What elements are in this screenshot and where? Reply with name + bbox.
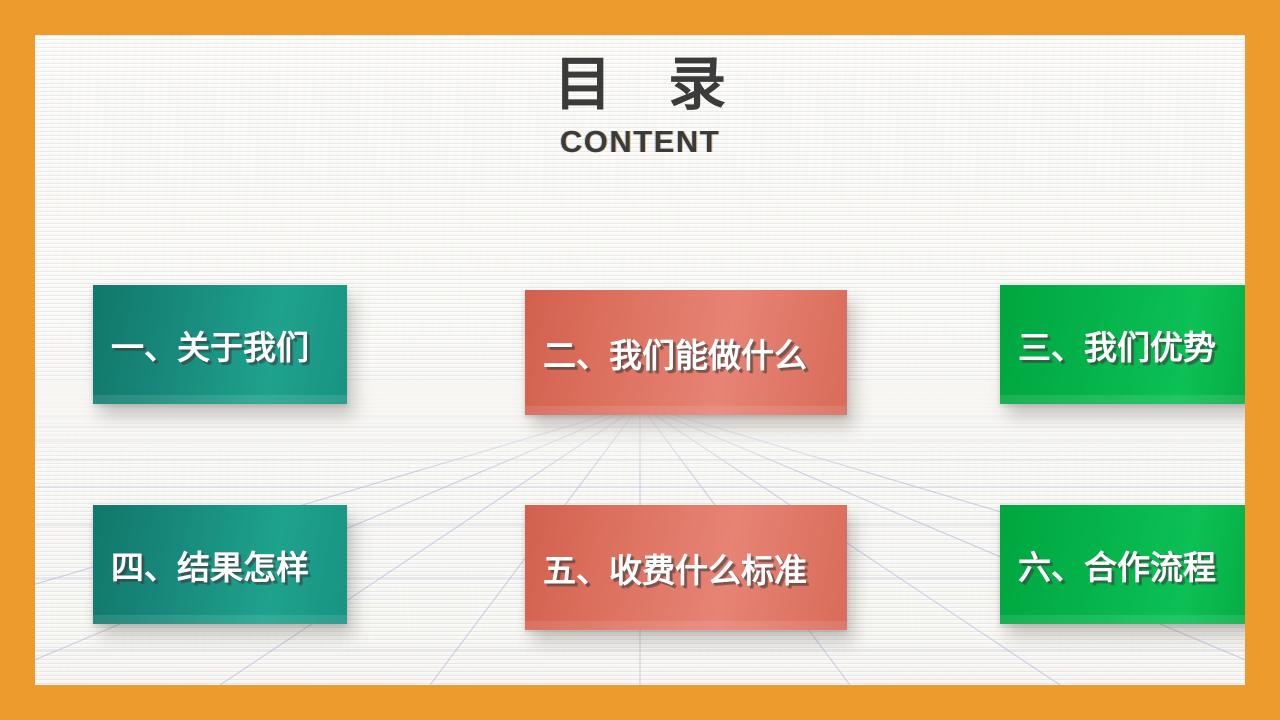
page-subtitle: CONTENT <box>35 124 1245 160</box>
agenda-card-1-label: 一、关于我们 <box>93 321 309 369</box>
agenda-card-3[interactable]: 三、我们优势 <box>1000 285 1245 404</box>
agenda-card-5[interactable]: 五、收费什么标准 <box>525 505 847 630</box>
agenda-card-4-label: 四、结果怎样 <box>93 541 309 589</box>
page-header: 目 录 CONTENT <box>35 49 1245 160</box>
slide-content-panel: 目 录 CONTENT 一、关于我们 二、我们能做什么 三、我们优势 四、结果怎… <box>35 35 1245 685</box>
page-title: 目 录 <box>35 49 1245 120</box>
agenda-card-5-label: 五、收费什么标准 <box>525 544 807 592</box>
slide-canvas: 目 录 CONTENT 一、关于我们 二、我们能做什么 三、我们优势 四、结果怎… <box>0 0 1280 720</box>
agenda-card-1[interactable]: 一、关于我们 <box>93 285 347 404</box>
agenda-card-2-label: 二、我们能做什么 <box>525 329 807 377</box>
agenda-card-4[interactable]: 四、结果怎样 <box>93 505 347 624</box>
agenda-card-3-label: 三、我们优势 <box>1000 321 1216 369</box>
agenda-card-6-label: 六、合作流程 <box>1000 541 1216 589</box>
agenda-card-2[interactable]: 二、我们能做什么 <box>525 290 847 415</box>
agenda-card-6[interactable]: 六、合作流程 <box>1000 505 1245 624</box>
